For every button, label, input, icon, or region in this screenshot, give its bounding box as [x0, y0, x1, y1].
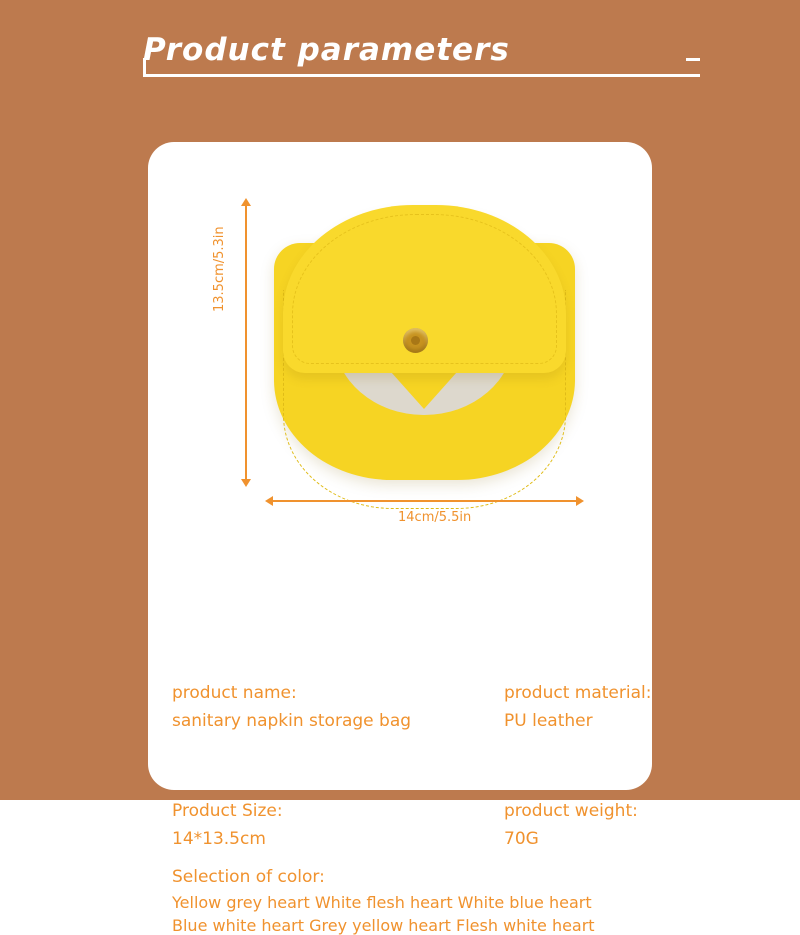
- spec-label-product-weight: product weight:: [504, 801, 638, 821]
- arrow-up-icon: [241, 198, 251, 206]
- product-image-area: 13.5cm/5.3in 14cm/5.5in: [148, 142, 652, 532]
- product-bag-illustration: [274, 205, 575, 480]
- width-dimension-label: 14cm/5.5in: [393, 510, 476, 525]
- spec-list: product name: sanitary napkin storage ba…: [148, 532, 652, 790]
- arrow-left-icon: [265, 496, 273, 506]
- product-card: 13.5cm/5.3in 14cm/5.5in product name: sa…: [148, 142, 652, 790]
- spec-value-product-name: sanitary napkin storage bag: [172, 711, 411, 731]
- bag-snap-button-center: [411, 336, 420, 345]
- page-root: Product parameters: [0, 0, 800, 800]
- spec-value-product-material: PU leather: [504, 711, 593, 731]
- arrow-down-icon: [241, 479, 251, 487]
- height-dimension-arrow: [245, 205, 247, 480]
- width-dimension-arrow: [272, 500, 577, 502]
- spec-label-product-size: Product Size:: [172, 801, 283, 821]
- spec-value-product-size: 14*13.5cm: [172, 829, 266, 849]
- bag-snap-button: [403, 328, 428, 353]
- spec-value-product-weight: 70G: [504, 829, 539, 849]
- spec-label-product-material: product material:: [504, 683, 651, 703]
- color-selection-line-2: Blue white heart Grey yellow heart Flesh…: [172, 916, 595, 935]
- color-selection-line-1: Yellow grey heart White flesh heart Whit…: [172, 893, 592, 912]
- spec-label-product-name: product name:: [172, 683, 297, 703]
- page-title: Product parameters: [143, 32, 510, 68]
- height-dimension-label: 13.5cm/5.3in: [212, 226, 227, 312]
- color-selection-label: Selection of color:: [172, 867, 325, 887]
- page-header: Product parameters: [0, 0, 800, 120]
- header-tick-right: [686, 58, 700, 61]
- header-divider: [143, 74, 700, 77]
- arrow-right-icon: [576, 496, 584, 506]
